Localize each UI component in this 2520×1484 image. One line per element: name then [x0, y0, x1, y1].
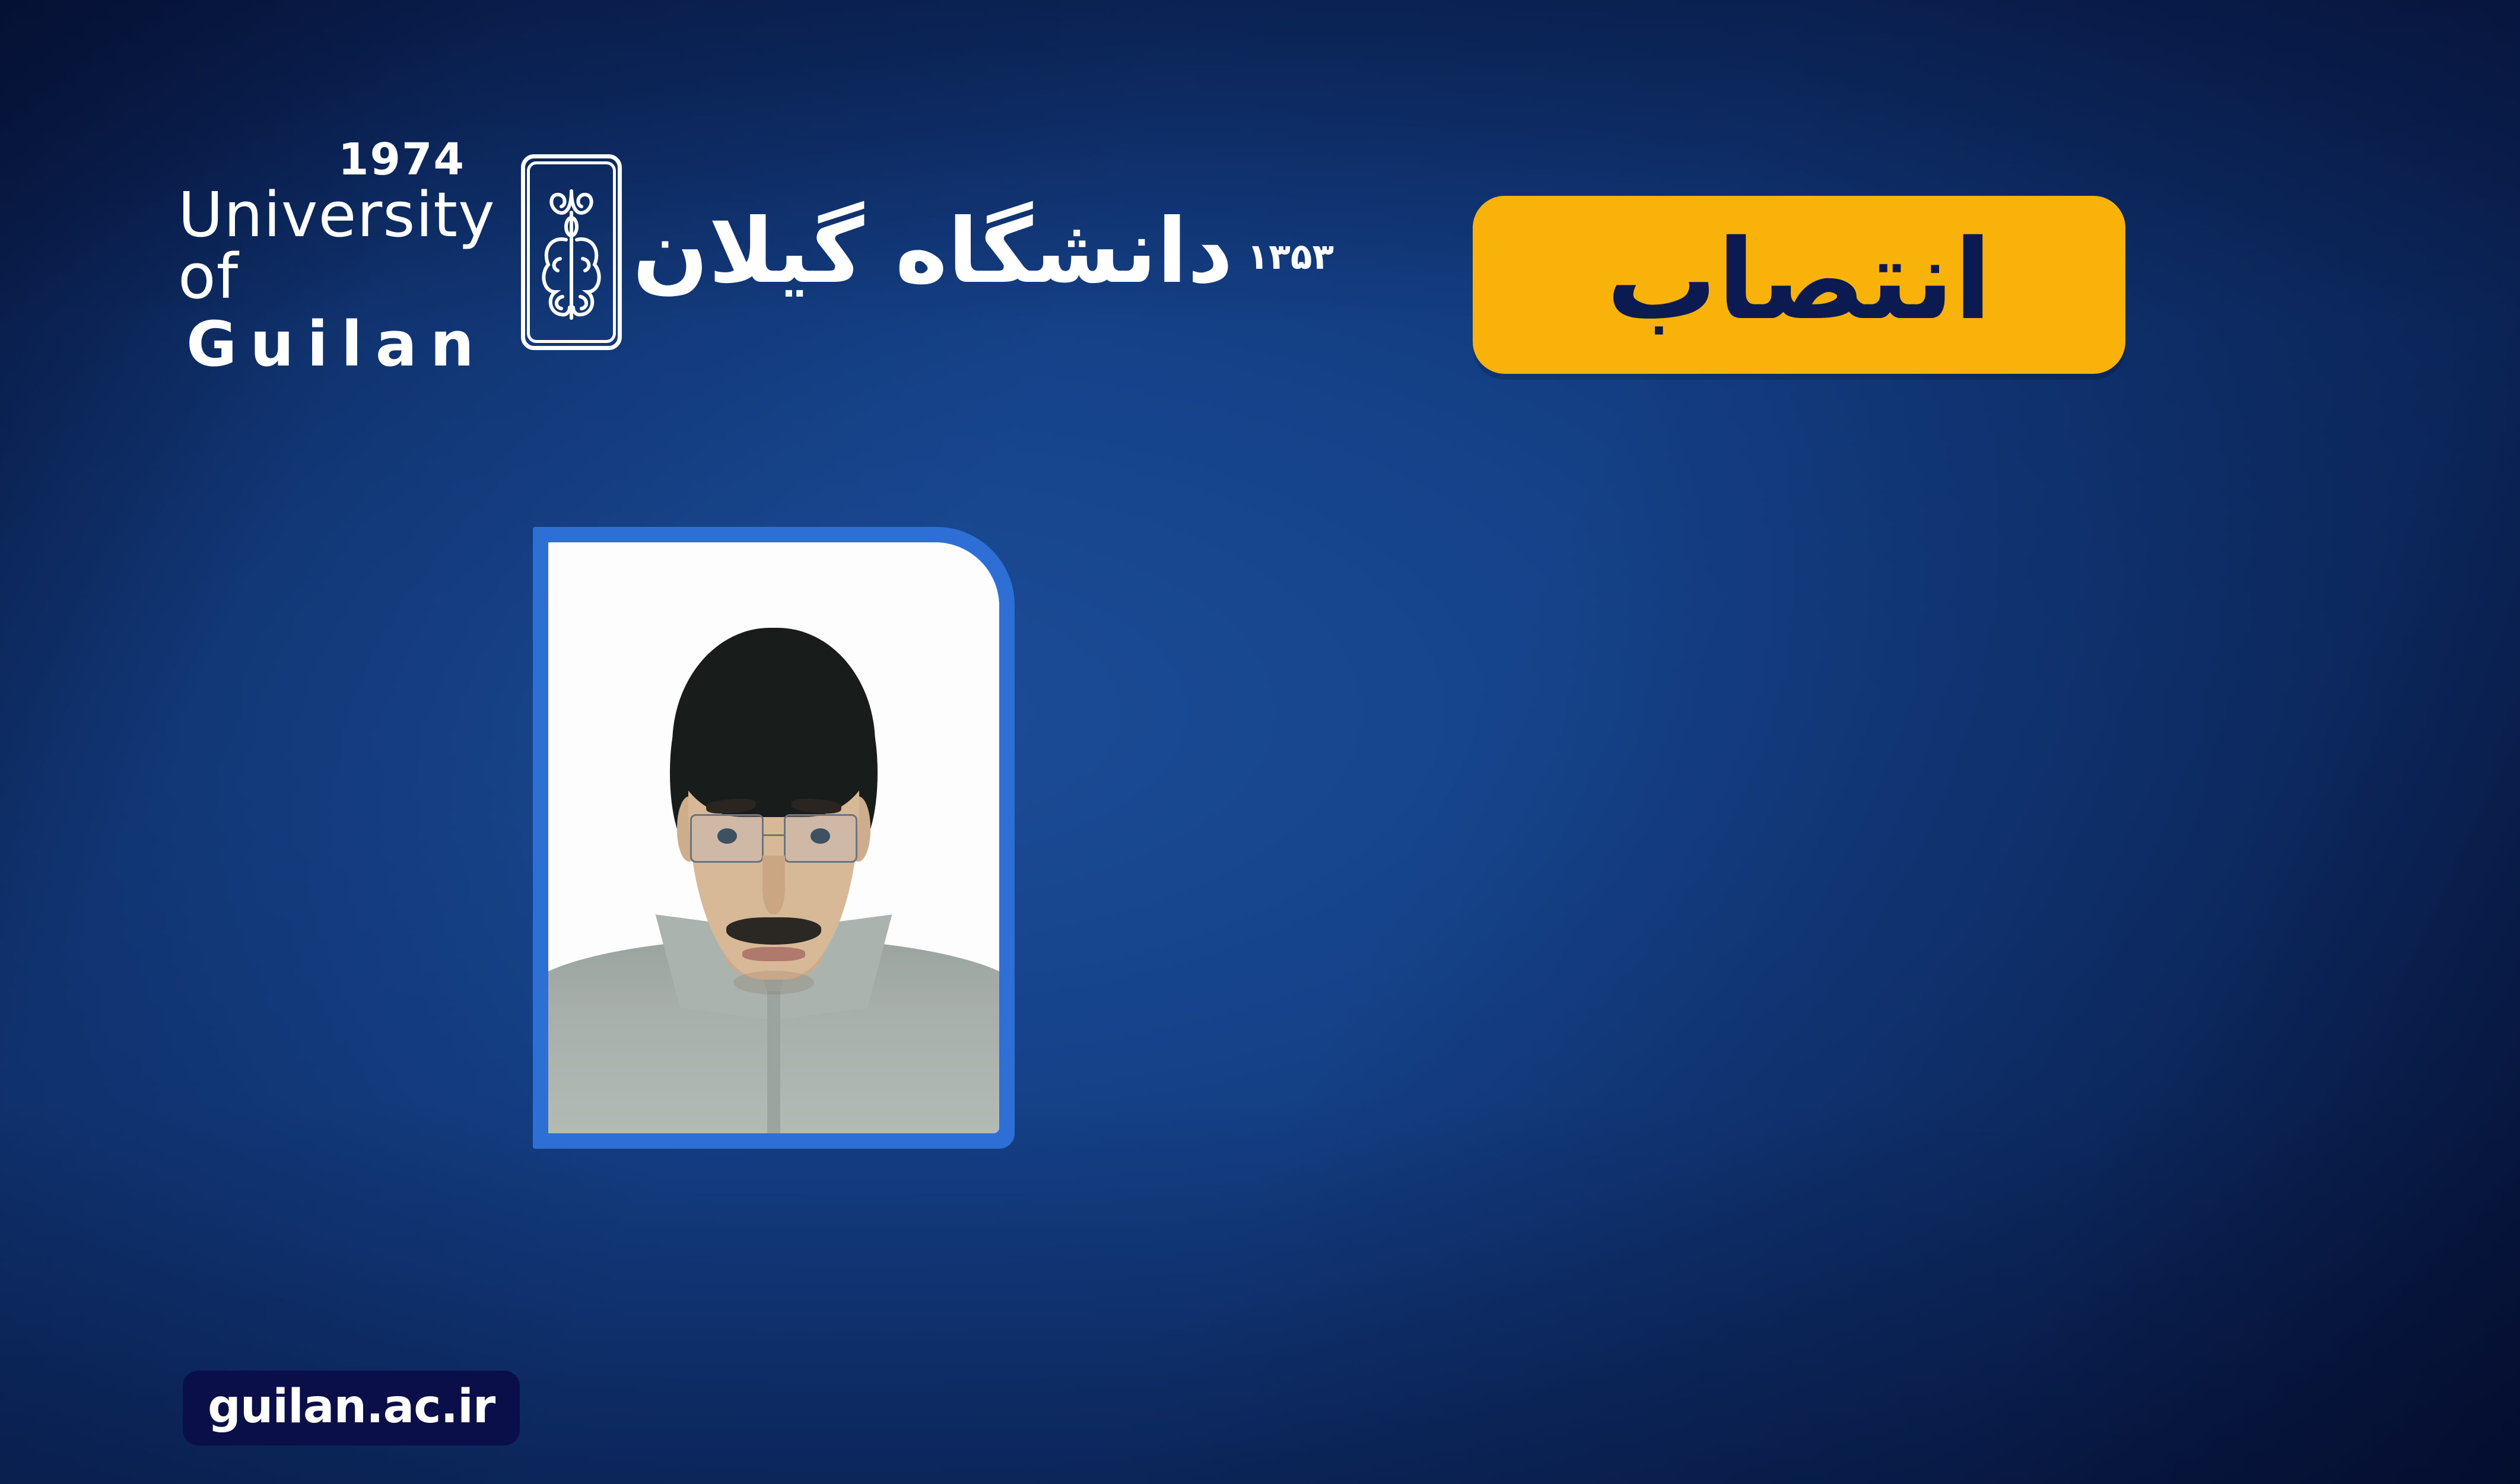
logo-name-en-line2: Guilan [186, 313, 510, 375]
portrait-photo-frame [533, 527, 1015, 1149]
website-url: guilan.ac.ir [208, 1384, 495, 1430]
headline-badge: انتصاب [1473, 196, 2125, 374]
logo-year-gregorian: 1974 [338, 138, 510, 182]
portrait-photo [548, 542, 999, 1133]
butterfly-emblem-icon [521, 154, 622, 350]
logo-year-solar: ۱۳۵۳ [1247, 236, 1334, 278]
headline-badge-label: انتصاب [1606, 225, 1992, 335]
logo-name-en-line1: University of [178, 184, 510, 307]
university-logo: 1974 University of Guilan ۱۳۵۳ دانشگ [178, 128, 1199, 377]
logo-name-fa: دانشگاه گیلان [633, 200, 1322, 303]
appointment-announcement-poster: 1974 University of Guilan ۱۳۵۳ دانشگ [0, 0, 2520, 1484]
website-badge[interactable]: guilan.ac.ir [183, 1371, 520, 1445]
logo-persian-text: ۱۳۵۳ دانشگاه گیلان [633, 205, 1337, 299]
logo-english-text: 1974 University of Guilan [178, 129, 510, 375]
